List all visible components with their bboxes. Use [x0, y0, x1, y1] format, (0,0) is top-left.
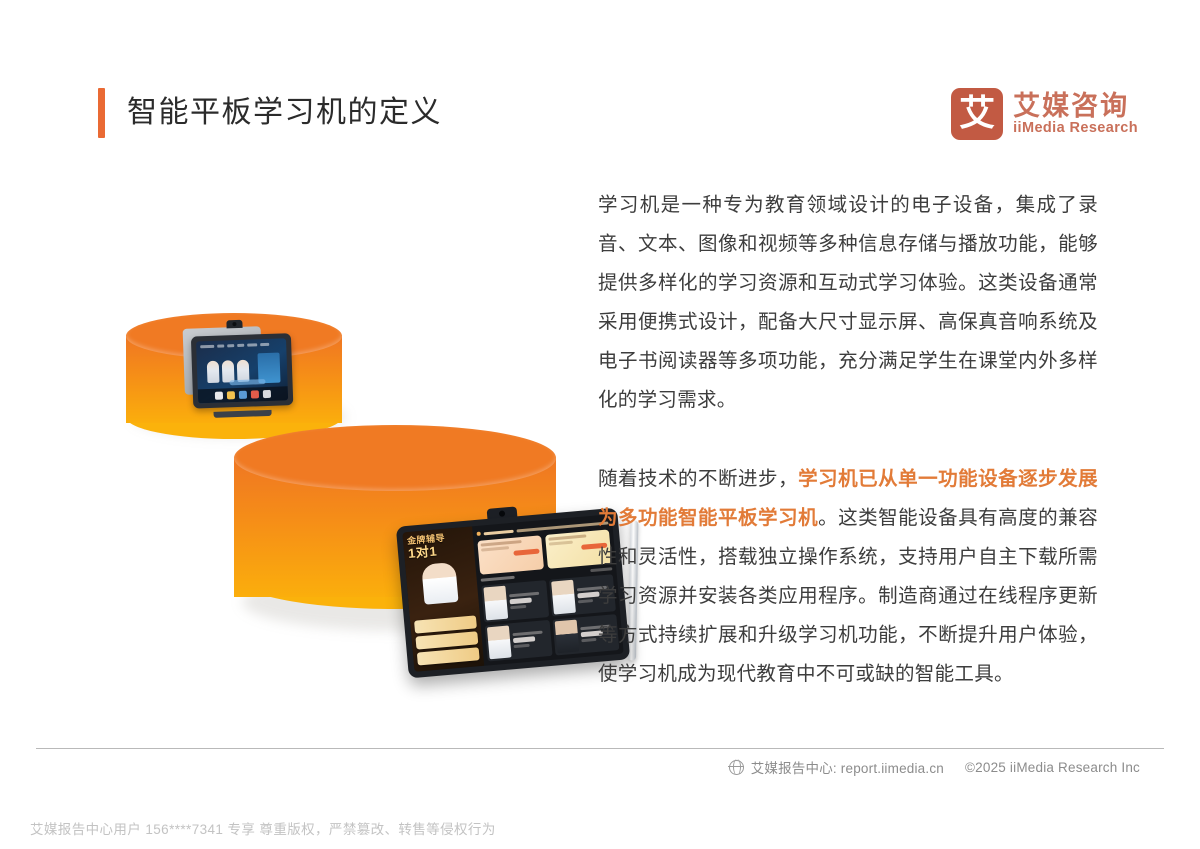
pedestal-small	[126, 313, 342, 441]
promo-card-button	[513, 549, 539, 556]
footer-divider	[36, 748, 1164, 749]
paragraph-2-before: 随着技术的不断进步，	[598, 468, 798, 490]
paragraph-2: 随着技术的不断进步，学习机已从单一功能设备逐步发展为多功能智能平板学习机。这类智…	[598, 460, 1098, 694]
logo-text-group: 艾媒咨询 iiMedia Research	[1013, 92, 1138, 137]
course-tutor-avatar	[551, 580, 576, 614]
promo-teacher-photo	[421, 562, 458, 605]
tablet-small-app-dock	[198, 386, 288, 403]
footer-copyright: ©2025 iiMedia Research Inc	[965, 760, 1140, 775]
tablet-large: 金牌辅导 1对1	[396, 508, 630, 679]
course-tile	[485, 619, 552, 661]
tablet-small-camera-icon	[226, 320, 242, 329]
slide-header: 智能平板学习机的定义 艾 艾媒咨询 iiMedia Research	[0, 0, 1200, 170]
logo-name-cn: 艾媒咨询	[1013, 92, 1138, 120]
tablet-small-body	[191, 333, 293, 408]
promo-chip	[417, 647, 480, 665]
promo-chip	[415, 631, 478, 649]
tablet-small	[181, 323, 296, 413]
tablet-small-play-button	[229, 379, 265, 385]
pedestal-large-top	[234, 425, 556, 491]
globe-icon	[729, 760, 744, 775]
promo-chip-list	[414, 615, 480, 665]
logo-mark-icon: 艾	[951, 88, 1003, 140]
body-copy: 学习机是一种专为教育领域设计的电子设备，集成了录音、文本、图像和视频等多种信息存…	[598, 186, 1098, 694]
paragraph-2-after: 。这类智能设备具有高度的兼容性和灵活性，搭载独立操作系统，支持用户自主下载所需学…	[598, 507, 1098, 685]
paragraph-1: 学习机是一种专为教育领域设计的电子设备，集成了录音、文本、图像和视频等多种信息存…	[598, 186, 1098, 420]
page-title-group: 智能平板学习机的定义	[98, 88, 442, 138]
course-tutor-avatar	[487, 625, 512, 659]
promo-title-line2: 1对1	[408, 542, 471, 562]
tablet-promo-panel: 金牌辅导 1对1	[402, 526, 484, 672]
logo-mark-char: 艾	[959, 95, 995, 131]
promo-chip	[414, 615, 477, 633]
tablet-large-body: 金牌辅导 1对1	[396, 508, 630, 679]
headline-title-bar	[484, 529, 514, 535]
page-title: 智能平板学习机的定义	[127, 98, 442, 128]
pedestal-large: 金牌辅导 1对1	[234, 425, 556, 637]
headline-bullet-icon	[477, 532, 481, 536]
product-illustration: 金牌辅导 1对1	[110, 245, 580, 655]
logo-name-en: iiMedia Research	[1013, 121, 1138, 136]
course-tutor-avatar	[483, 586, 508, 620]
brand-logo: 艾 艾媒咨询 iiMedia Research	[951, 88, 1138, 140]
footer: 艾媒报告中心: report.iimedia.cn ©2025 iiMedia …	[729, 757, 1140, 777]
tablet-small-topbar	[200, 341, 282, 348]
tablet-small-screen	[196, 338, 288, 403]
footer-report-center: 艾媒报告中心: report.iimedia.cn	[751, 757, 944, 777]
slide-root: 智能平板学习机的定义 艾 艾媒咨询 iiMedia Research	[0, 0, 1200, 849]
watermark-notice: 艾媒报告中心用户 156****7341 专享 尊重版权，严禁篡改、转售等侵权行…	[30, 818, 496, 838]
promo-card	[477, 535, 544, 574]
course-tile	[481, 580, 548, 622]
course-tutor-avatar	[554, 619, 579, 653]
course-tile-meta	[508, 582, 546, 617]
course-tile-meta	[512, 622, 550, 657]
title-accent-bar	[98, 88, 105, 138]
tablet-large-screen: 金牌辅导 1对1	[402, 514, 623, 672]
